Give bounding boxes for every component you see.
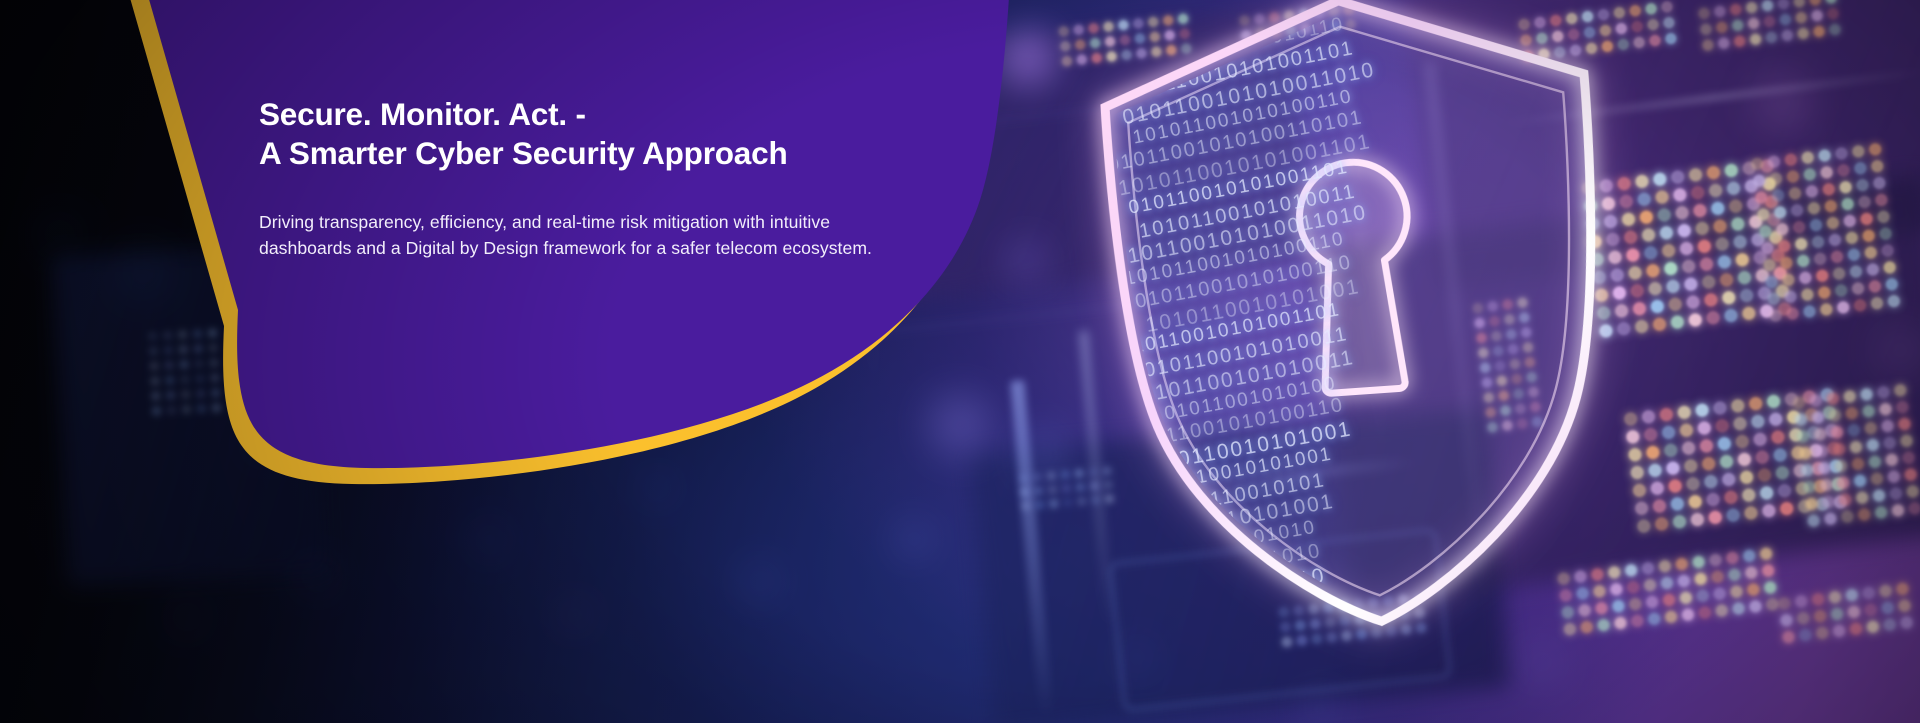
bga-chip-icon bbox=[1750, 143, 1900, 323]
bokeh-light bbox=[1300, 690, 1340, 723]
bokeh-light bbox=[560, 600, 590, 630]
bokeh-light bbox=[1880, 330, 1920, 370]
hero-subcopy: Driving transparency, efficiency, and re… bbox=[259, 210, 899, 261]
purple-blob-panel bbox=[0, 0, 1060, 560]
page-title: Secure. Monitor. Act. -A Smarter Cyber S… bbox=[259, 95, 919, 173]
headline-line-2: A Smarter Cyber Security Approach bbox=[259, 134, 919, 173]
binary-digits-overlay: 0101101001100101011010101100101010011010… bbox=[1078, 0, 1643, 659]
bokeh-light bbox=[1520, 640, 1564, 684]
headline-line-1: Secure. Monitor. Act. - bbox=[259, 96, 586, 132]
hero-copy: Secure. Monitor. Act. -A Smarter Cyber S… bbox=[259, 95, 919, 261]
shield-icon: 0101101001100101011010101100101010011010… bbox=[1078, 0, 1643, 659]
bokeh-light bbox=[740, 560, 782, 602]
bokeh-light bbox=[170, 600, 204, 634]
bokeh-light bbox=[300, 560, 334, 594]
bga-chip-icon bbox=[1792, 384, 1920, 528]
hero-banner: 0101101001100101011010101100101010011010… bbox=[0, 0, 1920, 723]
bokeh-light bbox=[1760, 80, 1806, 126]
